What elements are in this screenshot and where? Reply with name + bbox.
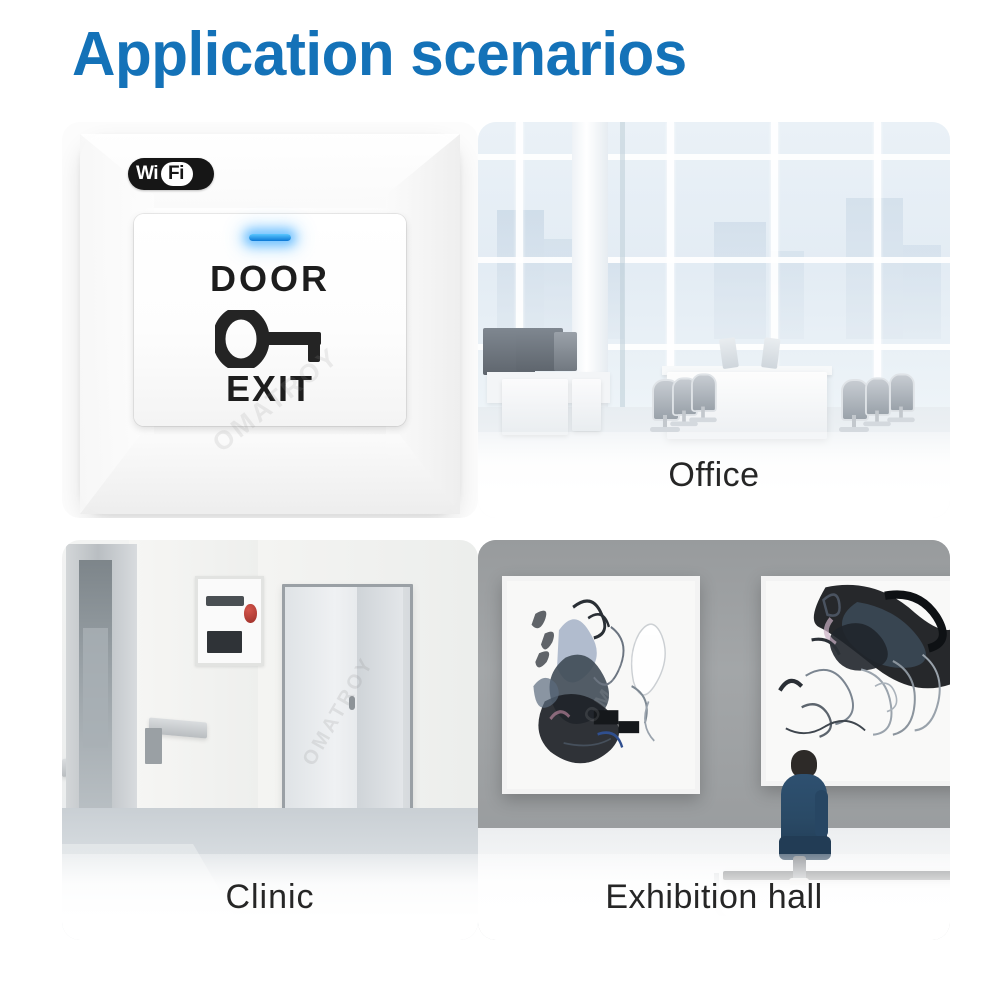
push-button-face[interactable]: DOOR EXIT (134, 214, 406, 426)
led-indicator (249, 234, 291, 241)
caption-clinic: Clinic (62, 854, 478, 940)
caption-exhibition-label: Exhibition hall (605, 878, 822, 917)
office-chair (687, 373, 718, 428)
panel-product: Wi Fi DOOR (62, 122, 478, 518)
sliding-door-right (357, 584, 403, 819)
product-infographic-page: Application scenarios Wi Fi (0, 0, 1000, 1000)
emergency-wall-panel (195, 576, 263, 666)
exhibition-photo: OMATROY Exhibition hall (478, 540, 950, 940)
wifi-logo-fi: Fi (161, 162, 193, 186)
room-interior-glimpse (83, 628, 108, 748)
filing-cabinet (572, 379, 600, 430)
switch-bezel: Wi Fi DOOR (80, 134, 460, 514)
panel-exhibition: OMATROY Exhibition hall (478, 540, 950, 940)
panel-display (207, 631, 242, 653)
wifi-logo-wi: Wi (128, 163, 158, 185)
glass-partition (620, 122, 625, 431)
panel-office: Office (478, 122, 950, 518)
caption-office-label: Office (668, 456, 759, 495)
window-mullion-vertical (874, 122, 881, 415)
scenario-grid: Wi Fi DOOR (62, 122, 950, 940)
bezel-facet-bottom (80, 434, 460, 514)
caption-clinic-label: Clinic (225, 878, 314, 917)
monitor (554, 332, 578, 372)
visitor-arm (815, 790, 828, 838)
key-icon (215, 310, 325, 373)
handrail-bracket (145, 728, 162, 764)
clinic-photo: OMATROY Clinic (62, 540, 478, 940)
page-title: Application scenarios (72, 22, 687, 87)
filing-cabinet (502, 379, 568, 434)
label-door: DOOR (134, 258, 406, 300)
panel-clinic: OMATROY Clinic (62, 540, 478, 940)
office-photo: Office (478, 122, 950, 518)
caption-office: Office (478, 432, 950, 518)
panel-strip (206, 596, 245, 606)
door-exit-switch: Wi Fi DOOR (80, 134, 460, 514)
product-photo: Wi Fi DOOR (62, 122, 478, 518)
skyline-building (714, 222, 766, 339)
emergency-button[interactable] (244, 604, 256, 622)
office-chair (885, 373, 916, 428)
wifi-logo-icon: Wi Fi (128, 158, 214, 190)
caption-exhibition: Exhibition hall (478, 854, 950, 940)
label-exit: EXIT (134, 368, 406, 410)
